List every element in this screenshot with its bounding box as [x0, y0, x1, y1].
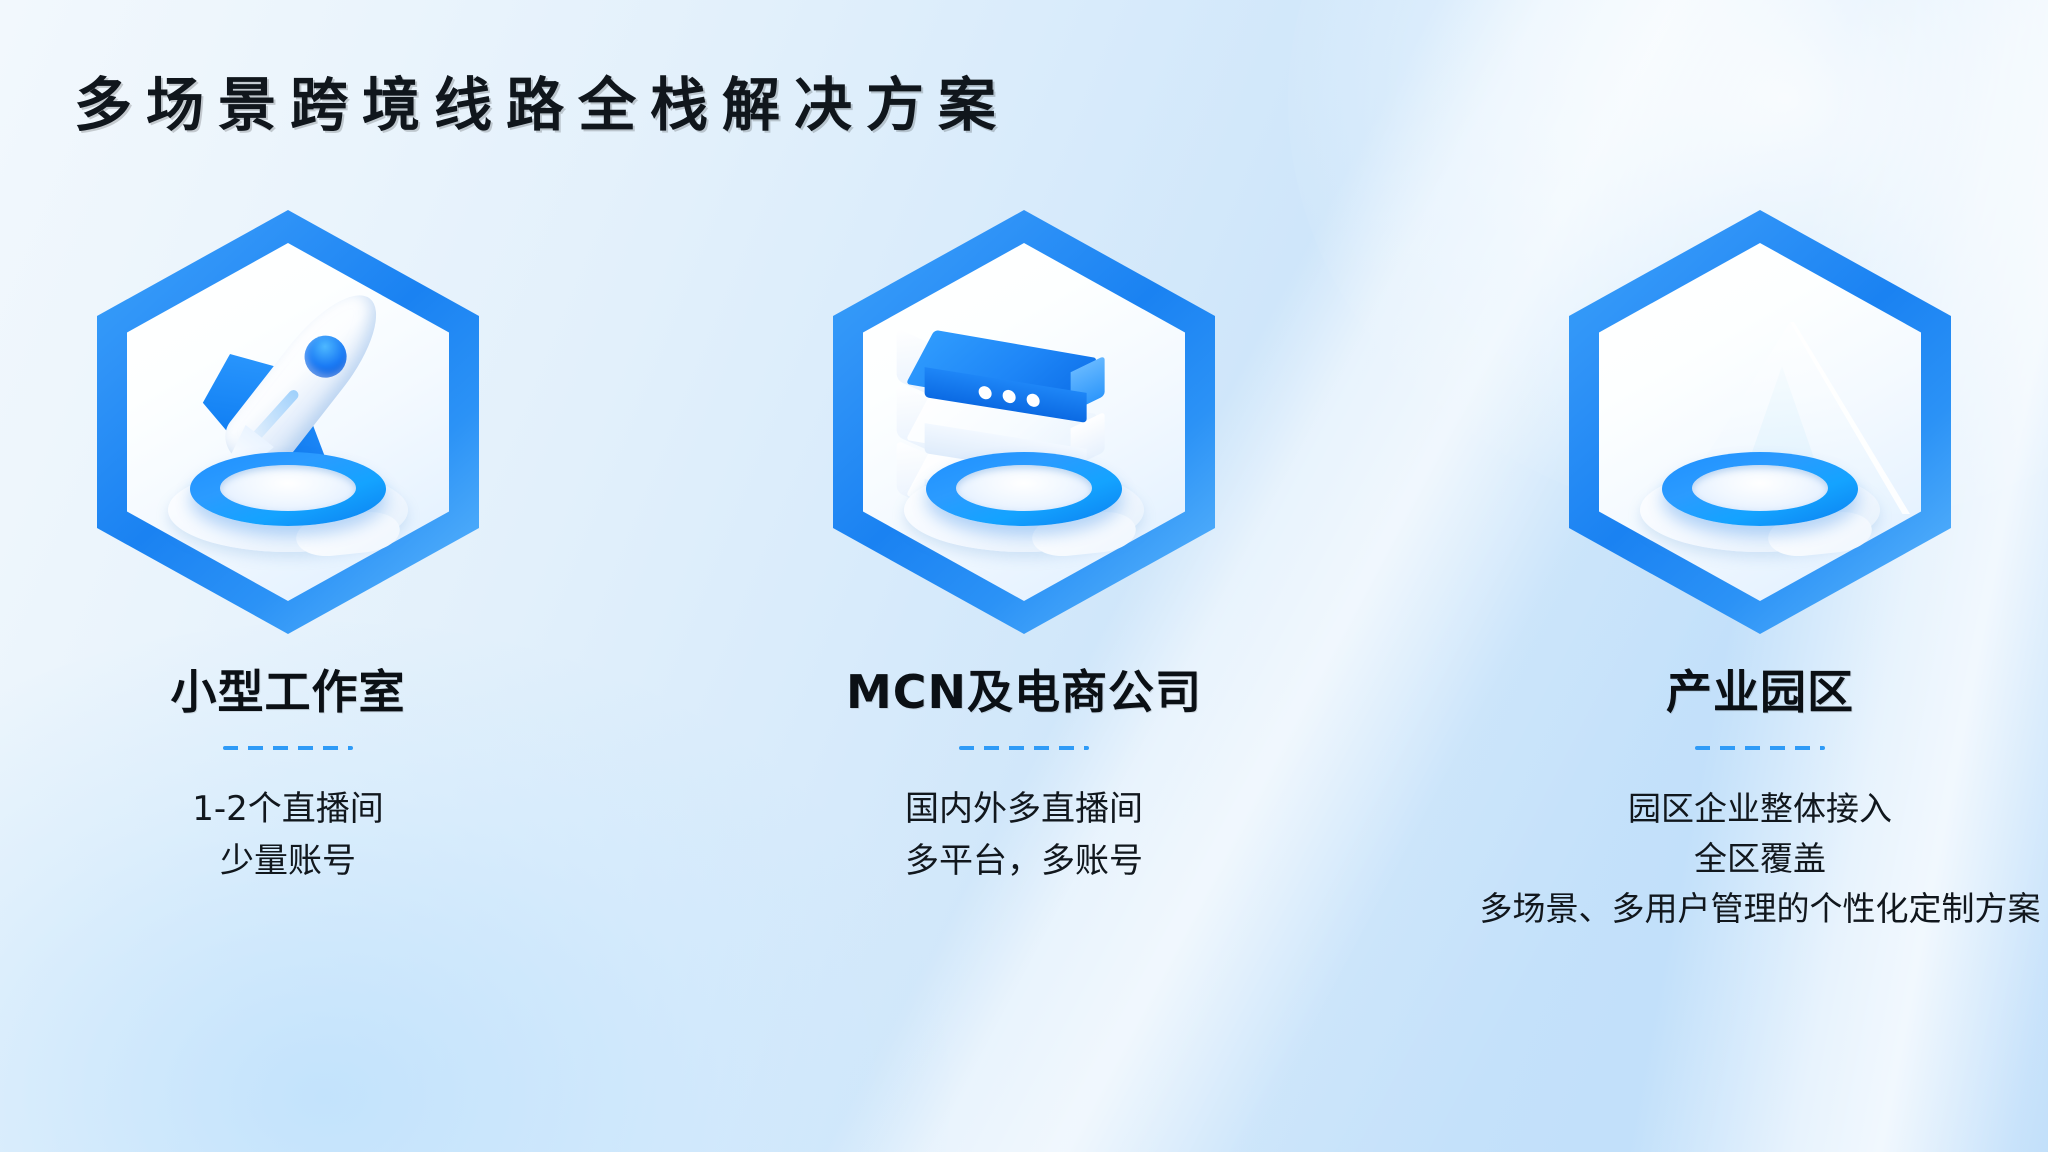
stack-layer-top: [913, 344, 1129, 410]
card-description: 国内外多直播间 多平台，多账号: [905, 784, 1143, 887]
scenario-card-industrial-park[interactable]: 产业园区 园区企业整体接入 全区覆盖 多场景、多用户管理的个性化定制方案: [1480, 210, 2040, 934]
hexagon-badge: [97, 210, 479, 634]
card-description-line: 多场景、多用户管理的个性化定制方案: [1480, 884, 2041, 934]
pedestal-ring: [926, 452, 1122, 526]
hexagon-badge: [833, 210, 1215, 634]
card-description-line: 1-2个直播间: [192, 784, 384, 836]
pyramid-icon: [1569, 210, 1951, 634]
hexagon-badge: [1569, 210, 1951, 634]
pedestal-base: [190, 452, 386, 538]
card-description-line: 少量账号: [192, 836, 384, 888]
card-description: 园区企业整体接入 全区覆盖 多场景、多用户管理的个性化定制方案: [1480, 784, 2041, 934]
pedestal-ring: [1662, 452, 1858, 526]
card-divider: [959, 746, 1089, 750]
card-description: 1-2个直播间 少量账号: [192, 784, 384, 887]
pedestal-base: [926, 452, 1122, 538]
page-title: 多场景跨境线路全栈解决方案: [74, 58, 1010, 142]
card-divider: [223, 746, 353, 750]
scenario-card-row: 小型工作室 1-2个直播间 少量账号: [0, 210, 2048, 934]
scenario-card-small-studio[interactable]: 小型工作室 1-2个直播间 少量账号: [8, 210, 568, 887]
status-dot: [979, 385, 992, 400]
card-title: MCN及电商公司: [846, 656, 1202, 722]
status-dot: [1003, 389, 1016, 404]
pedestal-ring: [190, 452, 386, 526]
server-stack-icon: [833, 210, 1215, 634]
card-title: 产业园区: [1666, 656, 1854, 722]
scenario-card-mcn-ecommerce[interactable]: MCN及电商公司 国内外多直播间 多平台，多账号: [744, 210, 1304, 887]
card-description-line: 园区企业整体接入: [1480, 784, 2041, 834]
card-description-line: 多平台，多账号: [905, 836, 1143, 888]
slide-canvas: 多场景跨境线路全栈解决方案: [0, 0, 2048, 1152]
pedestal-base: [1662, 452, 1858, 538]
card-description-line: 全区覆盖: [1480, 834, 2041, 884]
card-title: 小型工作室: [171, 656, 406, 722]
card-description-line: 国内外多直播间: [905, 784, 1143, 836]
rocket-icon: [97, 210, 479, 634]
status-dot: [1027, 393, 1040, 408]
card-divider: [1695, 746, 1825, 750]
